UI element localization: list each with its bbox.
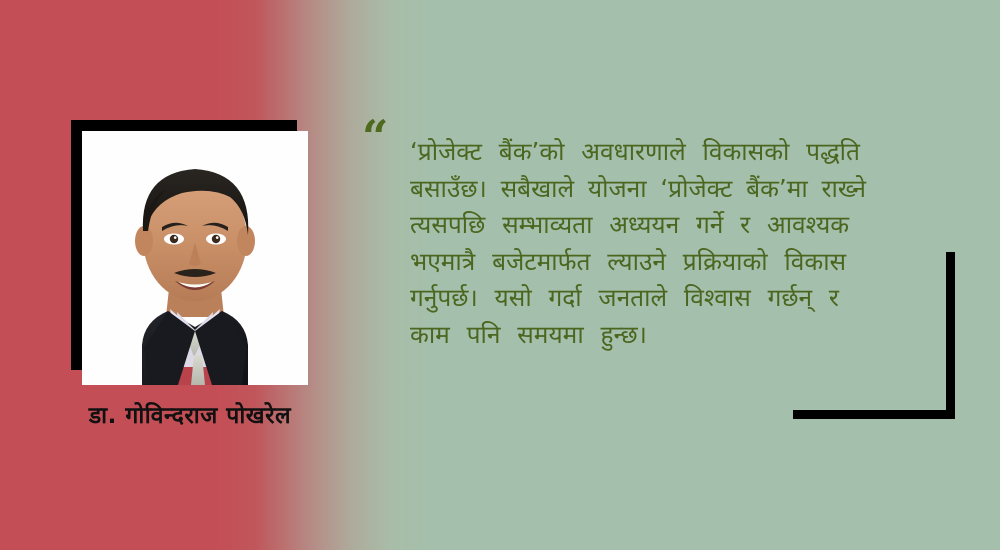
quote-open-icon: “ — [362, 114, 388, 160]
portrait-block — [63, 112, 315, 392]
portrait-photo — [82, 131, 308, 385]
corner-bracket-horizontal-bar — [793, 410, 955, 419]
quote-line: त्यसपछि सम्भाव्यता अध्ययन गर्ने र आवश्यक — [410, 207, 955, 244]
speaker-name: डा. गोविन्दराज पोखरेल — [40, 398, 340, 430]
corner-bracket-decoration — [793, 252, 955, 419]
quote-poster: डा. गोविन्दराज पोखरेल “ ‘प्रोजेक्ट बैंक’… — [0, 0, 1000, 550]
corner-bracket-vertical-bar — [946, 252, 955, 419]
quote-line: ‘प्रोजेक्ट बैंक’को अवधारणाले विकासको पद्… — [410, 134, 955, 171]
quote-line: बसाउँछ। सबैखाले योजना ‘प्रोजेक्ट बैंक’मा… — [410, 171, 955, 208]
photo-card — [82, 131, 308, 385]
